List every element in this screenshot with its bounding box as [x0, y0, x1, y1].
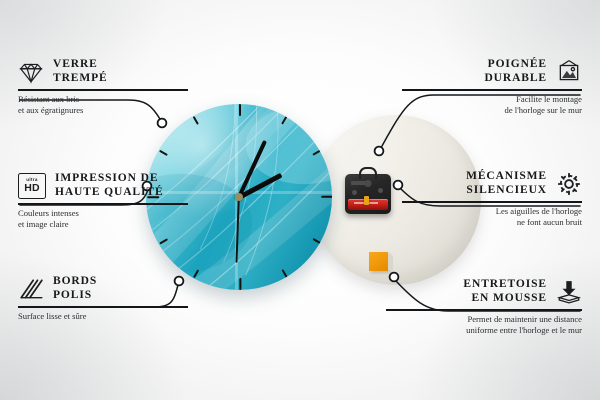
callout-print: ultra HD IMPRESSION DE HAUTE QUALITÉ Cou… — [18, 172, 188, 230]
callout-mechanism: MÉCANISME SILENCIEUX Les aiguilles de l'… — [402, 170, 582, 228]
product-infographic: VERRE TREMPÉ Résistant aux bris et aux é… — [0, 0, 600, 400]
callout-sub-line1: Facilite le montage — [402, 94, 582, 105]
callout-title-line1: IMPRESSION DE — [55, 172, 164, 186]
callout-rule — [402, 201, 582, 203]
foam-spacer-icon — [556, 279, 582, 305]
callout-sub-line1: Couleurs intenses — [18, 208, 188, 219]
callout-rule — [386, 309, 582, 311]
callout-sub-line2: et image claire — [18, 219, 188, 230]
callout-rule — [18, 89, 188, 91]
callout-edges: BORDS POLIS Surface lisse et sûre — [18, 275, 188, 322]
callout-title-line1: ENTRETOISE — [463, 278, 547, 292]
callout-title-line2: HAUTE QUALITÉ — [55, 186, 164, 200]
mechanism-shaft — [365, 180, 372, 187]
ultra-hd-icon-main: HD — [24, 183, 40, 194]
callout-title-line2: TREMPÉ — [53, 72, 108, 86]
callout-sub-line2: ne font aucun bruit — [402, 217, 582, 228]
callout-sub-line1: Permet de maintenir une distance — [386, 314, 582, 325]
callout-title-line2: SILENCIEUX — [466, 184, 547, 198]
callout-title-line2: DURABLE — [484, 72, 547, 86]
callout-sub-line1: Résistant aux bris — [18, 94, 188, 105]
callout-title-line1: POIGNÉE — [484, 58, 547, 72]
callout-sub-line2: de l'horloge sur le mur — [402, 105, 582, 116]
callout-rule — [18, 306, 188, 308]
ultra-hd-icon: ultra HD — [18, 173, 46, 199]
foam-spacer-side — [388, 254, 393, 272]
aa-battery — [348, 199, 388, 210]
diamond-icon — [18, 59, 44, 85]
callout-title-line1: MÉCANISME — [466, 170, 547, 184]
callout-handle: POIGNÉE DURABLE Facilite le montage de l… — [402, 58, 582, 116]
callout-spacer: ENTRETOISE EN MOUSSE Permet de maintenir… — [386, 278, 582, 336]
callout-title-line2: POLIS — [53, 289, 97, 303]
callout-title-line2: EN MOUSSE — [463, 292, 547, 306]
polished-edges-icon — [18, 276, 44, 302]
foam-spacer — [369, 252, 388, 271]
gear-icon — [556, 171, 582, 197]
callout-glass: VERRE TREMPÉ Résistant aux bris et aux é… — [18, 58, 188, 116]
callout-sub-line1: Les aiguilles de l'horloge — [402, 206, 582, 217]
hanger-hook-icon — [359, 167, 377, 179]
callout-sub-line1: Surface lisse et sûre — [18, 311, 188, 322]
mechanism-screw-right — [378, 188, 383, 193]
callout-title-line1: BORDS — [53, 275, 97, 289]
callout-rule — [18, 203, 188, 205]
battery-terminal — [364, 196, 369, 205]
mechanism-screw-left — [352, 190, 357, 195]
callout-title-line1: VERRE — [53, 58, 108, 72]
second-hand — [236, 197, 240, 263]
hands-center-cap — [235, 193, 243, 201]
callout-rule — [402, 89, 582, 91]
callout-sub-line2: uniforme entre l'horloge et le mur — [386, 325, 582, 336]
callout-sub-line2: et aux égratignures — [18, 105, 188, 116]
picture-hanger-icon — [556, 59, 582, 85]
